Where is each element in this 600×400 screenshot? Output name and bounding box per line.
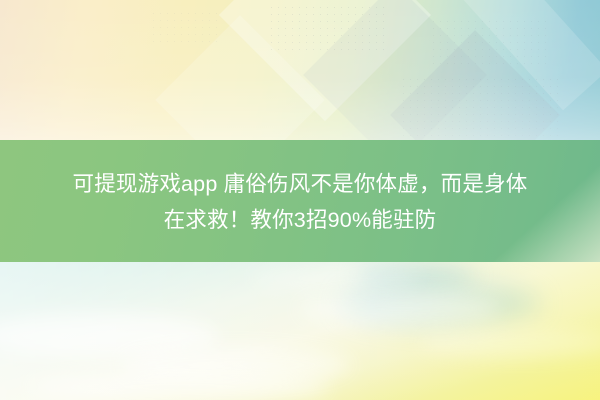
banner-title-line-1: 可提现游戏app 庸俗伤风不是你体虚，而是身体 [73,166,528,202]
top-area-fade-overlay [0,0,600,142]
banner-title: 可提现游戏app 庸俗伤风不是你体虚，而是身体 在求救！教你3招90%能驻防 [0,140,600,264]
bottom-area-tint-overlay [0,262,600,400]
top-decorative-area [0,0,600,142]
promo-banner: 可提现游戏app 庸俗伤风不是你体虚，而是身体 在求救！教你3招90%能驻防 [0,0,600,400]
bottom-decorative-area [0,262,600,400]
banner-title-line-2: 在求救！教你3招90%能驻防 [164,202,437,238]
